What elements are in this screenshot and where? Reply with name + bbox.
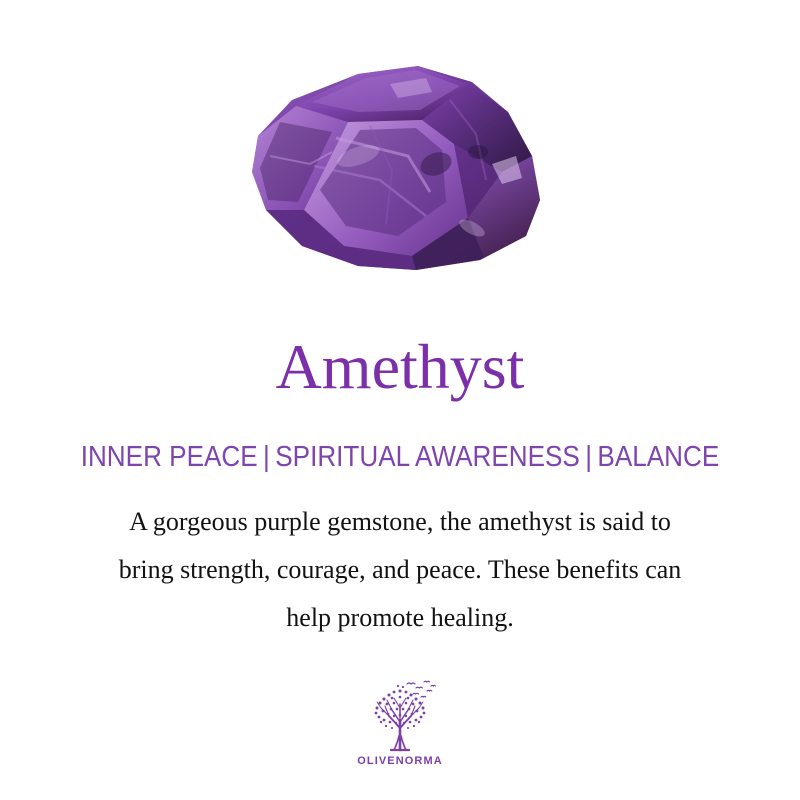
page-title: Amethyst (0, 332, 800, 402)
gemstone-image-area (0, 60, 800, 310)
description-text: A gorgeous purple gemstone, the amethyst… (55, 498, 745, 642)
brand-logo[interactable]: OLIVENORMA (0, 678, 800, 767)
brand-name: OLIVENORMA (0, 755, 800, 767)
description-line-2: bring strength, courage, and peace. Thes… (55, 546, 745, 594)
keyword-separator-2: | (580, 441, 598, 473)
keyword-balance: BALANCE (597, 441, 719, 473)
keyword-inner-peace: INNER PEACE (81, 441, 258, 473)
tree-with-birds-icon (361, 678, 439, 754)
keyword-list: INNER PEACE|SPIRITUAL AWARENESS|BALANCE (40, 440, 760, 474)
description-line-1: A gorgeous purple gemstone, the amethyst… (55, 498, 745, 546)
keyword-spiritual-awareness: SPIRITUAL AWARENESS (275, 441, 580, 473)
amethyst-crystal-icon (240, 60, 560, 290)
keyword-separator-1: | (258, 441, 276, 473)
description-line-3: help promote healing. (55, 594, 745, 642)
amethyst-product-card: Amethyst INNER PEACE|SPIRITUAL AWARENESS… (0, 0, 800, 800)
